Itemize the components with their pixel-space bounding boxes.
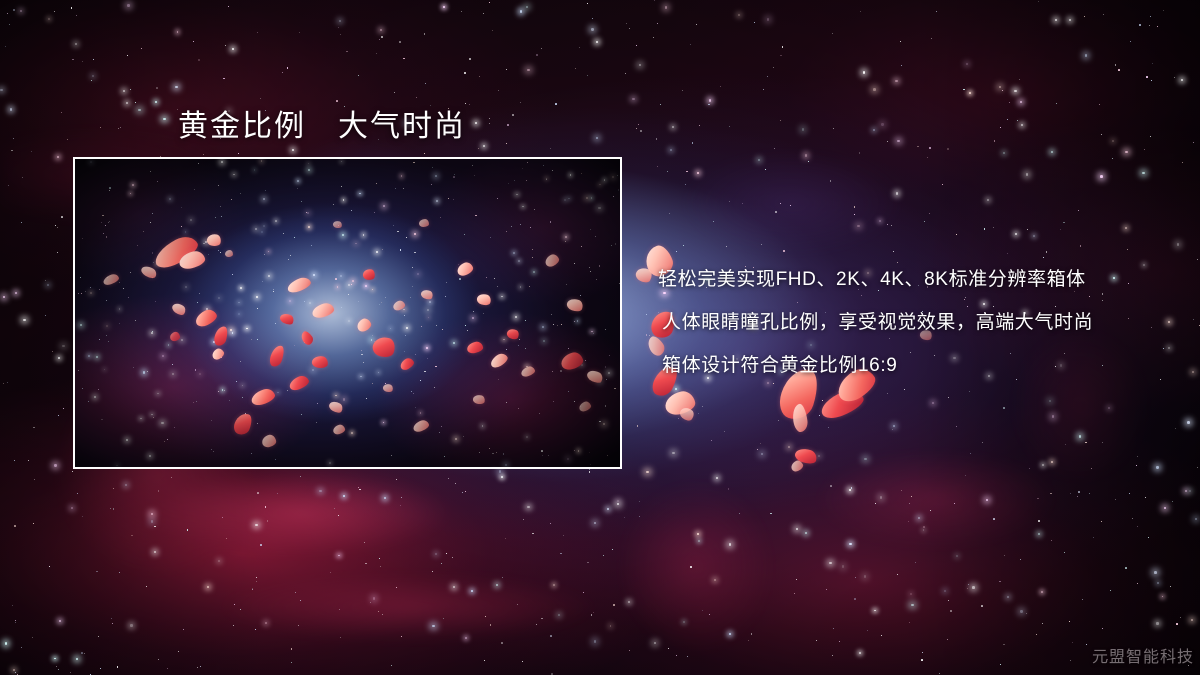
body-copy: 轻松完美实现FHD、2K、4K、8K标准分辨率箱体 人体眼睛瞳孔比例，享受视觉效… [658,258,1158,387]
framed-image[interactable] [73,157,622,469]
framed-image-vignette [75,159,620,467]
body-line-3: 箱体设计符合黄金比例16:9 [658,344,1158,387]
page-title: 黄金比例 大气时尚 [178,101,466,145]
body-line-1: 轻松完美实现FHD、2K、4K、8K标准分辨率箱体 [658,258,1158,301]
watermark: 元盟智能科技 [1092,643,1194,667]
body-line-2: 人体眼睛瞳孔比例，享受视觉效果，高端大气时尚 [658,301,1158,344]
presentation-slide: 黄金比例 大气时尚 轻松完美实现FHD、2K、4K、8K标准分辨率箱体 人体眼睛… [0,0,1200,675]
